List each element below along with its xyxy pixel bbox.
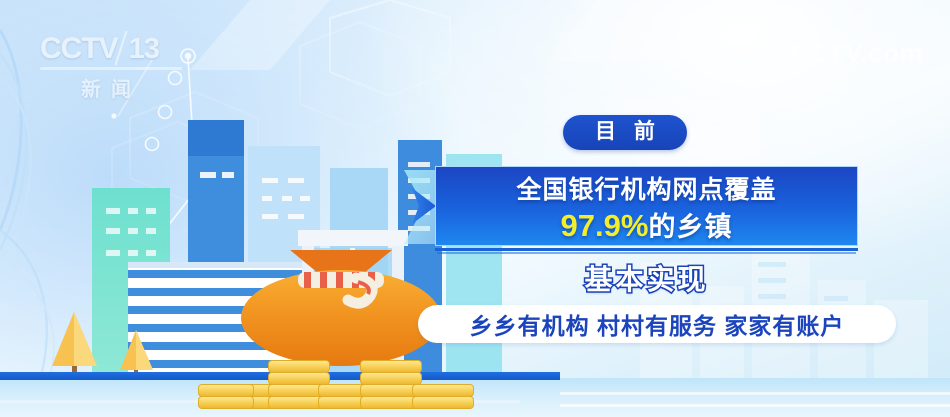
floor-stripe [560,404,950,407]
banner-underline-primary [435,248,858,251]
money-bag-icon [232,248,450,368]
logo-channel-number: 13 [120,33,159,66]
logo-underline [40,67,182,70]
slogan-text: 乡乡有机构 村村有服务 家家有账户 [470,307,845,341]
cctv-com-watermark: CCTV.com [790,38,923,69]
percent-value: 97.9% [561,208,649,243]
headline-line-1: 全国银行机构网点覆盖 [436,175,857,205]
status-badge: 目 前 [563,115,687,150]
logo-wordmark: CCTV 13 [40,32,190,66]
logo-subtitle: 新闻 [40,73,182,102]
floor-stripe [560,392,950,395]
secondary-headline: 基本实现 [435,258,858,298]
slogan-pill: 乡乡有机构 村村有服务 家家有账户 [418,305,896,343]
headline-line-2: 97.9%的乡镇 [436,207,857,244]
percent-suffix: 的乡镇 [648,212,732,242]
logo-cctv-text: CCTV [40,32,118,66]
headline-banner: 全国银行机构网点覆盖 97.9%的乡镇 [435,166,858,246]
floor [0,378,950,417]
infographic-stage: CCTV 13 新闻 CCTV.com 目 前 全国银行机构网点覆盖 97.9%… [0,0,950,417]
cctv13-logo: CCTV 13 新闻 [40,32,190,94]
banner-underline-secondary [437,252,856,254]
